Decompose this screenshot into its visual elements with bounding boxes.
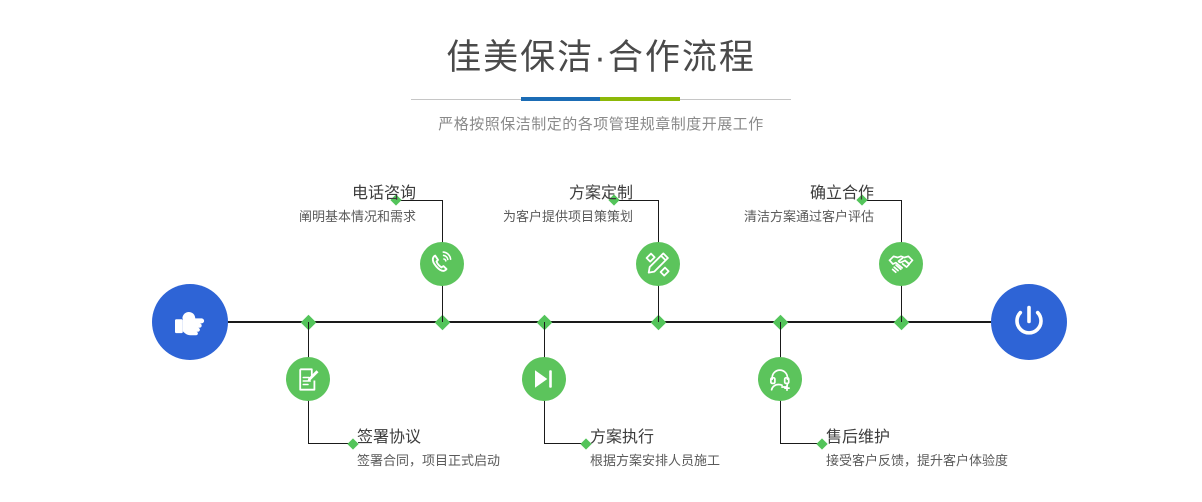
step-node-5[interactable] — [879, 242, 923, 286]
step-label-5: 确立合作 清洁方案通过客户评估 — [744, 184, 874, 226]
step-desc-4: 根据方案安排人员施工 — [590, 451, 720, 470]
document-pen-icon — [296, 367, 321, 392]
step-label-3: 方案定制 为客户提供项目策策划 — [503, 184, 633, 226]
step-node-2[interactable] — [286, 357, 330, 401]
timeline-end-endpoint — [991, 284, 1067, 360]
divider-segment-blue — [521, 97, 600, 101]
headset-support-icon — [768, 367, 793, 392]
divider-segment-green — [600, 97, 680, 101]
step-title-5: 确立合作 — [744, 184, 874, 204]
step-title-4: 方案执行 — [590, 428, 720, 448]
phone-call-icon — [429, 251, 455, 277]
step-label-4: 方案执行 根据方案安排人员施工 — [590, 428, 720, 470]
handshake-icon — [888, 251, 914, 277]
play-next-icon — [532, 367, 556, 391]
title-divider — [0, 93, 1202, 107]
timeline-start-endpoint — [152, 284, 228, 360]
header: 佳美保洁·合作流程 严格按照保洁制定的各项管理规章制度开展工作 — [0, 0, 1202, 135]
pointing-hand-icon — [170, 302, 210, 342]
pencil-ruler-icon — [645, 251, 671, 277]
step-node-4[interactable] — [522, 357, 566, 401]
step-label-2: 签署协议 签署合同，项目正式启动 — [357, 428, 500, 470]
step-label-6: 售后维护 接受客户反馈，提升客户体验度 — [826, 428, 1008, 470]
step-title-1: 电话咨询 — [299, 184, 416, 204]
step-label-1: 电话咨询 阐明基本情况和需求 — [299, 184, 416, 226]
step-title-3: 方案定制 — [503, 184, 633, 204]
step-node-3[interactable] — [636, 242, 680, 286]
page-title: 佳美保洁·合作流程 — [0, 37, 1202, 79]
step-desc-1: 阐明基本情况和需求 — [299, 207, 416, 226]
step-desc-2: 签署合同，项目正式启动 — [357, 451, 500, 470]
step-title-6: 售后维护 — [826, 428, 1008, 448]
flowchart-canvas: 佳美保洁·合作流程 严格按照保洁制定的各项管理规章制度开展工作 — [0, 0, 1202, 502]
page-subtitle: 严格按照保洁制定的各项管理规章制度开展工作 — [0, 115, 1202, 135]
step-desc-6: 接受客户反馈，提升客户体验度 — [826, 451, 1008, 470]
step-title-2: 签署协议 — [357, 428, 500, 448]
step-node-6[interactable] — [758, 357, 802, 401]
step-desc-3: 为客户提供项目策策划 — [503, 207, 633, 226]
power-button-icon — [1008, 301, 1050, 343]
step-desc-5: 清洁方案通过客户评估 — [744, 207, 874, 226]
step-node-1[interactable] — [420, 242, 464, 286]
